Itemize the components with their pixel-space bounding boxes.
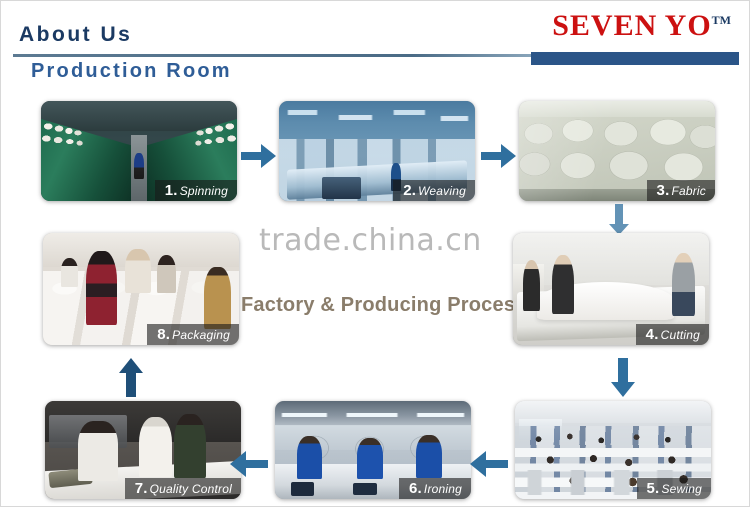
step-number: 3. [657, 183, 670, 198]
step-label: Spinning [180, 184, 228, 198]
step-caption-quality-control: 7. Quality Control [125, 478, 241, 499]
step-card-packaging[interactable]: 8. Packaging [43, 233, 239, 345]
step-label: Fabric [671, 184, 706, 198]
brand-logo: SEVEN YOTM [552, 9, 731, 43]
arrow-cutting-to-sewing [610, 358, 636, 398]
step-label: Quality Control [150, 482, 232, 496]
page-title: About Us [19, 23, 132, 47]
header-divider-block [531, 52, 739, 65]
arrow-spinning-to-weaving [241, 143, 277, 169]
production-room-page: About Us Production Room SEVEN YOTM 1. S… [0, 0, 750, 507]
site-watermark: trade.china.cn [259, 223, 482, 258]
page-header: About Us Production Room SEVEN YOTM [1, 1, 750, 91]
step-number: 7. [135, 481, 148, 496]
step-number: 2. [403, 183, 416, 198]
arrow-fabric-to-cutting [608, 204, 630, 236]
step-card-quality-control[interactable]: 7. Quality Control [45, 401, 241, 499]
step-label: Weaving [418, 184, 466, 198]
trademark-mark: TM [712, 13, 731, 27]
step-card-sewing[interactable]: 5. Sewing [515, 401, 711, 499]
step-label: Cutting [661, 328, 700, 342]
step-card-cutting[interactable]: 4. Cutting [513, 233, 709, 345]
step-card-weaving[interactable]: 2. Weaving [279, 101, 475, 201]
step-caption-sewing: 5. Sewing [637, 478, 711, 499]
section-title: Production Room [31, 60, 232, 83]
step-caption-weaving: 2. Weaving [393, 180, 475, 201]
step-caption-ironing: 6. Ironing [399, 478, 471, 499]
step-label: Packaging [172, 328, 230, 342]
arrow-weaving-to-fabric [481, 143, 517, 169]
step-card-fabric[interactable]: 3. Fabric [519, 101, 715, 201]
process-heading: Factory & Producing Process [241, 294, 526, 317]
arrow-ironing-to-quality [229, 450, 269, 478]
arrow-sewing-to-ironing [469, 450, 509, 478]
step-label: Sewing [661, 482, 702, 496]
step-number: 8. [157, 327, 170, 342]
step-label: Ironing [424, 482, 462, 496]
step-card-spinning[interactable]: 1. Spinning [41, 101, 237, 201]
step-card-ironing[interactable]: 6. Ironing [275, 401, 471, 499]
arrow-quality-to-packaging [118, 358, 144, 398]
step-caption-cutting: 4. Cutting [636, 324, 709, 345]
step-caption-fabric: 3. Fabric [647, 180, 715, 201]
step-number: 6. [409, 481, 422, 496]
step-number: 1. [165, 183, 178, 198]
brand-logo-text: SEVEN YO [552, 9, 711, 42]
step-number: 5. [647, 481, 660, 496]
step-number: 4. [646, 327, 659, 342]
step-caption-packaging: 8. Packaging [147, 324, 239, 345]
step-caption-spinning: 1. Spinning [155, 180, 237, 201]
